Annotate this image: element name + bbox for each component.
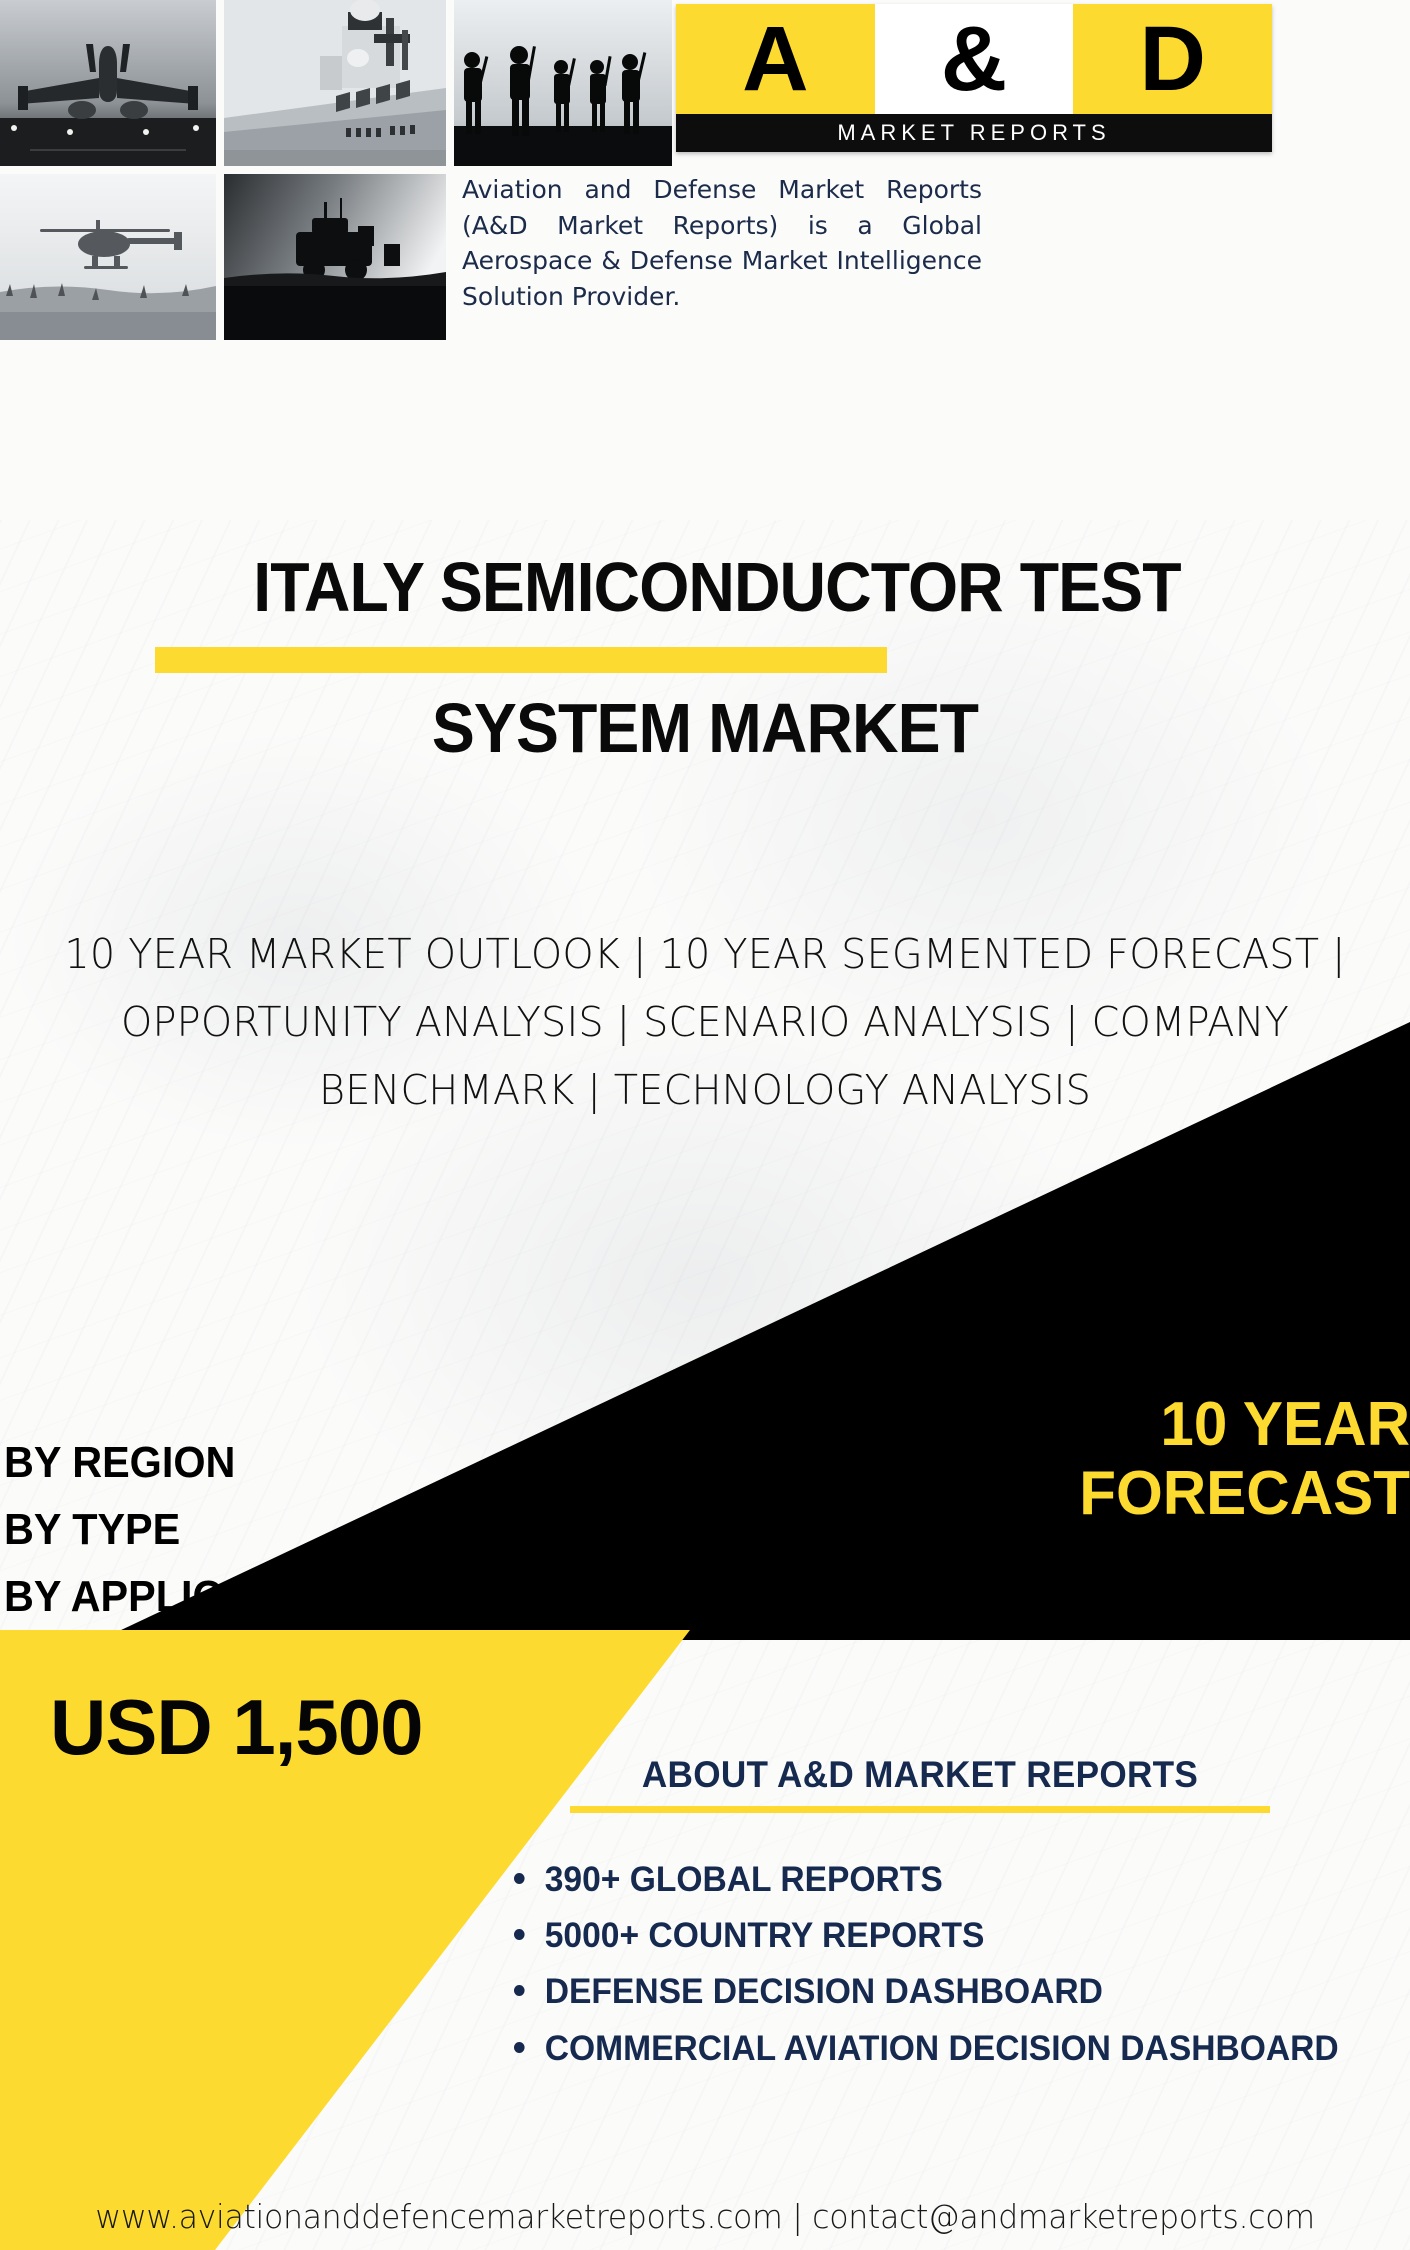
list-item: 390+ GLOBAL REPORTS: [514, 1857, 1365, 1903]
list-item: COMMERCIAL AVIATION DECISION DASHBOARD: [514, 2026, 1365, 2072]
photo-military-helicopter-in-flight: [0, 174, 216, 340]
bullet-dot-icon: [514, 1929, 525, 1940]
segmentation-item-type: BY TYPE: [4, 1497, 348, 1564]
photo-soldiers-silhouette-patrol: [454, 0, 672, 166]
logo-letter-d: D: [1073, 4, 1272, 114]
about-title-underline: [570, 1806, 1270, 1813]
brand-logo: A & D MARKET REPORTS: [676, 4, 1272, 152]
footer-contact: www.aviationanddefencemarketreports.com …: [28, 2197, 1382, 2236]
list-item: 5000+ COUNTRY REPORTS: [514, 1913, 1365, 1959]
segmentation-list: BY REGION BY TYPE BY APPLICATION: [4, 1430, 370, 1631]
title-yellow-divider: [155, 647, 887, 673]
about-bullet-text: 390+ GLOBAL REPORTS: [545, 1860, 943, 1899]
bullet-dot-icon: [514, 2042, 525, 2053]
list-item: DEFENSE DECISION DASHBOARD: [514, 1969, 1365, 2015]
about-section: ABOUT A&D MARKET REPORTS 390+ GLOBAL REP…: [440, 1754, 1400, 2082]
segmentation-item-application: BY APPLICATION: [4, 1564, 348, 1631]
logo-ampersand: &: [875, 4, 1074, 114]
report-title: ITALY SEMICONDUCTOR TEST SYSTEM MARKET: [0, 552, 1410, 765]
about-section-title: ABOUT A&D MARKET REPORTS: [464, 1754, 1376, 1796]
price-value: USD 1,500: [50, 1688, 423, 1766]
forecast-badge: 10 YEAR FORECAST: [790, 1390, 1410, 1529]
forecast-badge-line-2: FORECAST: [809, 1459, 1410, 1528]
report-scope-text: 10 YEAR MARKET OUTLOOK | 10 YEAR SEGMENT…: [31, 920, 1379, 1124]
logo-letter-a: A: [676, 4, 875, 114]
about-bullet-list: 390+ GLOBAL REPORTS 5000+ COUNTRY REPORT…: [440, 1857, 1400, 2072]
about-bullet-text: COMMERCIAL AVIATION DECISION DASHBOARD: [545, 2029, 1339, 2068]
company-intro-paragraph: Aviation and Defense Market Reports (A&D…: [462, 172, 982, 314]
photo-aircraft-carrier-superstructure: [224, 0, 446, 166]
logo-subtitle-text: MARKET REPORTS: [837, 120, 1110, 146]
photo-armored-vehicle-at-dusk: [224, 174, 446, 340]
bullet-dot-icon: [514, 1873, 525, 1884]
photo-fighter-jet-on-carrier-deck: [0, 0, 216, 166]
segmentation-item-region: BY REGION: [4, 1430, 348, 1497]
logo-subtitle-bar: MARKET REPORTS: [676, 114, 1272, 152]
forecast-badge-line-1: 10 YEAR: [809, 1390, 1410, 1459]
logo-letter-row: A & D: [676, 4, 1272, 114]
report-title-line-1: ITALY SEMICONDUCTOR TEST: [56, 552, 1353, 623]
about-bullet-text: 5000+ COUNTRY REPORTS: [545, 1916, 985, 1955]
about-bullet-text: DEFENSE DECISION DASHBOARD: [545, 1972, 1103, 2011]
report-title-line-2: SYSTEM MARKET: [56, 693, 1353, 764]
bullet-dot-icon: [514, 1985, 525, 1996]
